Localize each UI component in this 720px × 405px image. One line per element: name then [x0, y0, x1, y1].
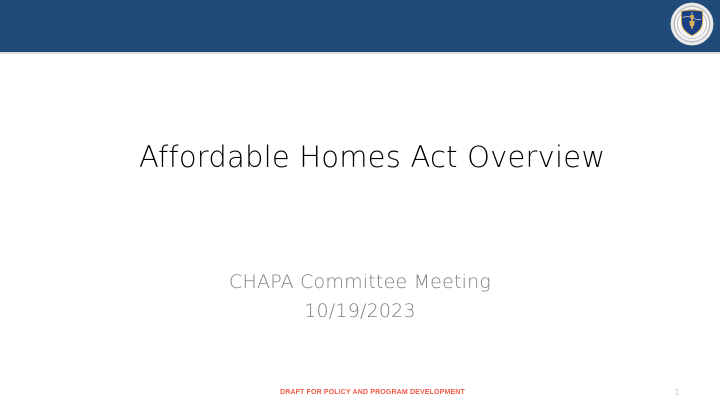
subtitle-line-date: 10/19/2023 [120, 297, 600, 326]
subtitle-placeholder: CHAPA Committee Meeting 10/19/2023 [120, 268, 600, 327]
slide-title: Affordable Homes Act Overview [60, 141, 605, 174]
footer-draft-notice: DRAFT FOR POLICY AND PROGRAM DEVELOPMENT [280, 389, 465, 396]
subtitle-line-meeting: CHAPA Committee Meeting [120, 268, 600, 297]
header-divider [0, 52, 720, 54]
page-number: 1 [670, 388, 684, 397]
slide-canvas: Affordable Homes Act Overview CHAPA Comm… [0, 0, 720, 405]
title-placeholder: Affordable Homes Act Overview [60, 118, 660, 198]
header-band [0, 0, 720, 52]
massachusetts-state-seal-icon [670, 2, 714, 46]
